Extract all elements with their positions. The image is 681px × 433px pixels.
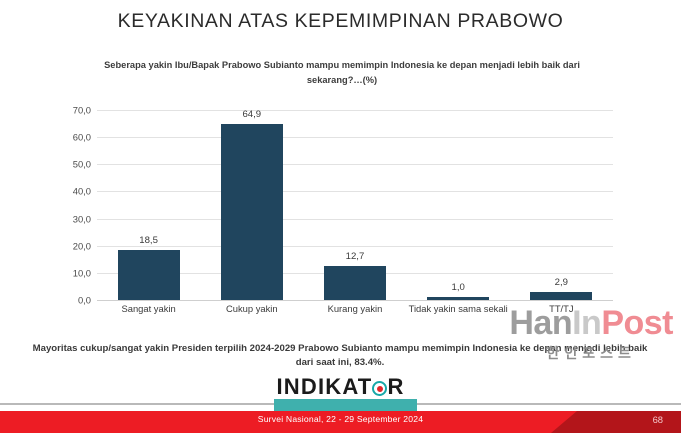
logo-text-part1: INDIKAT: [276, 374, 372, 399]
y-axis: 0,010,020,030,040,050,060,070,0: [37, 110, 91, 300]
bar[interactable]: [221, 124, 283, 300]
bar-chart: 0,010,020,030,040,050,060,070,0 18,564,9…: [0, 100, 681, 340]
x-axis-category-label: Cukup yakin: [200, 303, 303, 316]
chart-subtitle: Seberapa yakin Ibu/Bapak Prabowo Subiant…: [88, 58, 596, 88]
y-axis-tick-label: 60,0: [39, 132, 91, 143]
x-axis-labels: Sangat yakinCukup yakinKurang yakinTidak…: [97, 303, 613, 316]
bar[interactable]: [324, 266, 386, 300]
bar-value-label: 1,0: [407, 282, 510, 293]
page-title: KEYAKINAN ATAS KEPEMIMPINAN PRABOWO: [0, 10, 681, 33]
gridline: [97, 300, 613, 301]
bar-slot: 12,7: [303, 110, 406, 300]
x-axis-category-label: Sangat yakin: [97, 303, 200, 316]
bar-series: 18,564,912,71,02,9: [97, 110, 613, 300]
y-axis-tick-label: 0,0: [39, 295, 91, 306]
y-axis-tick-label: 40,0: [39, 186, 91, 197]
indikator-logo: INDIKATR: [0, 374, 681, 400]
x-axis-category-label: Kurang yakin: [303, 303, 406, 316]
slide-canvas: KEYAKINAN ATAS KEPEMIMPINAN PRABOWO Sebe…: [0, 0, 681, 433]
bar-value-label: 2,9: [510, 277, 613, 288]
x-axis-category-label: TT/TJ: [510, 303, 613, 316]
bar[interactable]: [118, 250, 180, 300]
y-axis-tick-label: 50,0: [39, 159, 91, 170]
page-number: 68: [653, 414, 663, 425]
bar-value-label: 18,5: [97, 235, 200, 246]
y-axis-tick-label: 20,0: [39, 240, 91, 251]
target-icon: [372, 381, 387, 396]
bar[interactable]: [530, 292, 592, 300]
y-axis-tick-label: 10,0: [39, 267, 91, 278]
bar-slot: 1,0: [407, 110, 510, 300]
bar-slot: 64,9: [200, 110, 303, 300]
bar-value-label: 64,9: [200, 109, 303, 120]
x-axis-category-label: Tidak yakin sama sekali: [407, 303, 510, 316]
bar-slot: 18,5: [97, 110, 200, 300]
bar[interactable]: [427, 297, 489, 300]
bar-value-label: 12,7: [303, 251, 406, 262]
chart-note: Mayoritas cukup/sangat yakin Presiden te…: [30, 342, 650, 370]
logo-text-part2: R: [387, 374, 404, 399]
y-axis-tick-label: 70,0: [39, 105, 91, 116]
bar-slot: 2,9: [510, 110, 613, 300]
footer-survey-info: Survei Nasional, 22 - 29 September 2024: [0, 414, 681, 424]
logo-text: INDIKATR: [276, 374, 404, 400]
y-axis-tick-label: 30,0: [39, 213, 91, 224]
